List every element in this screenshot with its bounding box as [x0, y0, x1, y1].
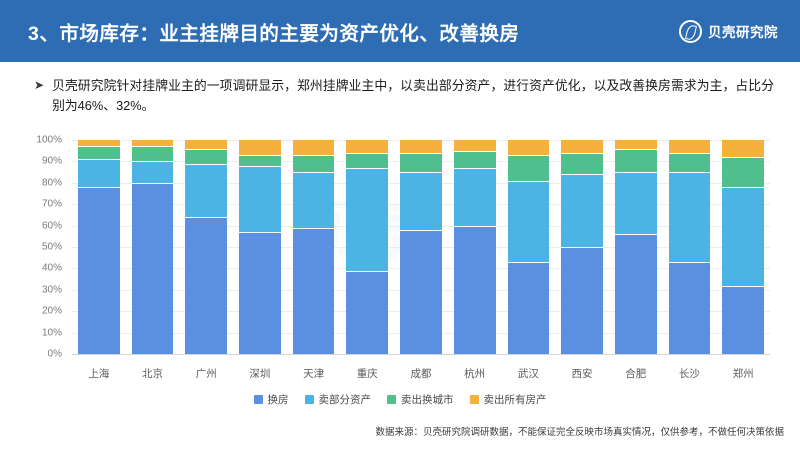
bar-segment[interactable] — [615, 140, 657, 149]
x-axis-tick: 成都 — [394, 364, 448, 384]
bar-segment[interactable] — [508, 155, 550, 181]
bar-segment[interactable] — [508, 262, 550, 354]
y-axis-tick: 0% — [48, 349, 62, 360]
x-axis-tick: 天津 — [287, 364, 341, 384]
bar-segment[interactable] — [561, 174, 603, 247]
bullet-text: 贝壳研究院针对挂牌业主的一项调研显示，郑州挂牌业主中，以卖出部分资产，进行资产优… — [52, 76, 774, 116]
bar-segment[interactable] — [346, 168, 388, 271]
bar-segment[interactable] — [78, 146, 120, 159]
legend-label: 换房 — [268, 392, 289, 407]
bar-segment[interactable] — [722, 157, 764, 187]
bar-segment[interactable] — [561, 140, 603, 153]
bar-column[interactable] — [716, 140, 770, 354]
bar-column[interactable] — [287, 140, 341, 354]
legend-swatch — [387, 395, 396, 404]
bar-column[interactable] — [126, 140, 180, 354]
bar-segment[interactable] — [185, 217, 227, 354]
bar-segment[interactable] — [239, 140, 281, 155]
bar-column[interactable] — [72, 140, 126, 354]
x-axis-tick: 深圳 — [233, 364, 287, 384]
bar-column[interactable] — [555, 140, 609, 354]
bar-segment[interactable] — [293, 140, 335, 155]
bar-segment[interactable] — [669, 153, 711, 172]
bar-segment[interactable] — [293, 172, 335, 228]
bar-column[interactable] — [179, 140, 233, 354]
bar-segment[interactable] — [615, 172, 657, 234]
x-axis-tick: 郑州 — [716, 364, 770, 384]
source-note: 数据来源：贝壳研究院调研数据，不能保证完全反映市场真实情况，仅供参考，不做任何决… — [375, 424, 784, 438]
y-axis-tick: 70% — [42, 199, 62, 210]
x-axis: 上海北京广州深圳天津重庆成都杭州武汉西安合肥长沙郑州 — [72, 364, 770, 384]
legend-item[interactable]: 卖出所有房产 — [470, 392, 547, 407]
y-axis-tick: 20% — [42, 306, 62, 317]
x-axis-tick: 广州 — [179, 364, 233, 384]
legend-swatch — [470, 395, 479, 404]
bar-segment[interactable] — [561, 247, 603, 354]
bar-segment[interactable] — [615, 234, 657, 354]
x-axis-tick: 杭州 — [448, 364, 502, 384]
bar-segment[interactable] — [185, 140, 227, 149]
x-axis-tick: 北京 — [126, 364, 180, 384]
bar-segment[interactable] — [615, 149, 657, 173]
slide-header: 3、市场库存：业主挂牌目的主要为资产优化、改善换房 贝壳研究院 — [0, 0, 800, 62]
x-axis-tick: 西安 — [555, 364, 609, 384]
bar-segment[interactable] — [722, 187, 764, 285]
bar-segment[interactable] — [400, 230, 442, 354]
y-axis-tick: 30% — [42, 284, 62, 295]
stacked-bar-chart: 100%90%80%70%60%50%40%30%20%10%0% 上海北京广州… — [26, 132, 778, 384]
bullet-arrow-icon: ➤ — [34, 76, 44, 116]
bar-segment[interactable] — [400, 172, 442, 230]
legend-item[interactable]: 卖出换城市 — [387, 392, 454, 407]
y-axis-tick: 50% — [42, 242, 62, 253]
bar-segment[interactable] — [239, 166, 281, 232]
chart-legend: 换房卖部分资产卖出换城市卖出所有房产 — [0, 392, 800, 407]
brand-logo: 贝壳研究院 — [679, 20, 778, 43]
bar-segment[interactable] — [669, 172, 711, 262]
bar-segment[interactable] — [454, 140, 496, 151]
bullet-paragraph: ➤ 贝壳研究院针对挂牌业主的一项调研显示，郑州挂牌业主中，以卖出部分资产，进行资… — [34, 76, 774, 116]
bar-column[interactable] — [394, 140, 448, 354]
bar-segment[interactable] — [78, 187, 120, 354]
bar-segment[interactable] — [185, 149, 227, 164]
y-axis-tick: 80% — [42, 177, 62, 188]
legend-label: 卖部分资产 — [319, 392, 372, 407]
bar-segment[interactable] — [185, 164, 227, 218]
bar-column[interactable] — [609, 140, 663, 354]
x-axis-tick: 重庆 — [340, 364, 394, 384]
bar-segment[interactable] — [239, 155, 281, 166]
bar-segment[interactable] — [722, 286, 764, 354]
x-axis-tick: 合肥 — [609, 364, 663, 384]
y-axis-tick: 40% — [42, 263, 62, 274]
bar-segment[interactable] — [561, 153, 603, 174]
x-axis-tick: 长沙 — [663, 364, 717, 384]
bar-column[interactable] — [233, 140, 287, 354]
y-axis-tick: 60% — [42, 220, 62, 231]
bar-segment[interactable] — [132, 161, 174, 182]
bar-segment[interactable] — [132, 146, 174, 161]
bar-segment[interactable] — [508, 140, 550, 155]
y-axis: 100%90%80%70%60%50%40%30%20%10%0% — [26, 140, 68, 354]
bar-segment[interactable] — [400, 140, 442, 153]
legend-swatch — [305, 395, 314, 404]
bar-segment[interactable] — [454, 151, 496, 168]
bar-segment[interactable] — [722, 140, 764, 157]
bar-segment[interactable] — [293, 155, 335, 172]
bar-segment[interactable] — [508, 181, 550, 262]
y-axis-tick: 10% — [42, 327, 62, 338]
bar-column[interactable] — [448, 140, 502, 354]
bar-segment[interactable] — [454, 226, 496, 354]
bar-column[interactable] — [502, 140, 556, 354]
x-axis-tick: 武汉 — [502, 364, 556, 384]
bar-segment[interactable] — [346, 140, 388, 153]
y-axis-tick: 100% — [36, 135, 62, 146]
axis-baseline — [72, 354, 770, 355]
bar-segment[interactable] — [132, 183, 174, 354]
bar-segment[interactable] — [239, 232, 281, 354]
bar-segment[interactable] — [346, 153, 388, 168]
legend-swatch — [254, 395, 263, 404]
bar-series-area — [72, 140, 770, 354]
legend-label: 卖出换城市 — [401, 392, 454, 407]
bar-segment[interactable] — [78, 159, 120, 187]
y-axis-tick: 90% — [42, 156, 62, 167]
bar-segment[interactable] — [669, 140, 711, 153]
legend-label: 卖出所有房产 — [484, 392, 547, 407]
bar-column[interactable] — [340, 140, 394, 354]
bar-segment[interactable] — [454, 168, 496, 226]
legend-item[interactable]: 换房 — [254, 392, 289, 407]
bar-segment[interactable] — [669, 262, 711, 354]
shell-logo-icon — [679, 20, 702, 43]
brand-name: 贝壳研究院 — [708, 21, 778, 41]
bar-segment[interactable] — [346, 271, 388, 354]
x-axis-tick: 上海 — [72, 364, 126, 384]
legend-item[interactable]: 卖部分资产 — [305, 392, 372, 407]
bar-segment[interactable] — [400, 153, 442, 172]
bar-segment[interactable] — [293, 228, 335, 354]
bar-column[interactable] — [663, 140, 717, 354]
page-title: 3、市场库存：业主挂牌目的主要为资产优化、改善换房 — [28, 17, 679, 46]
